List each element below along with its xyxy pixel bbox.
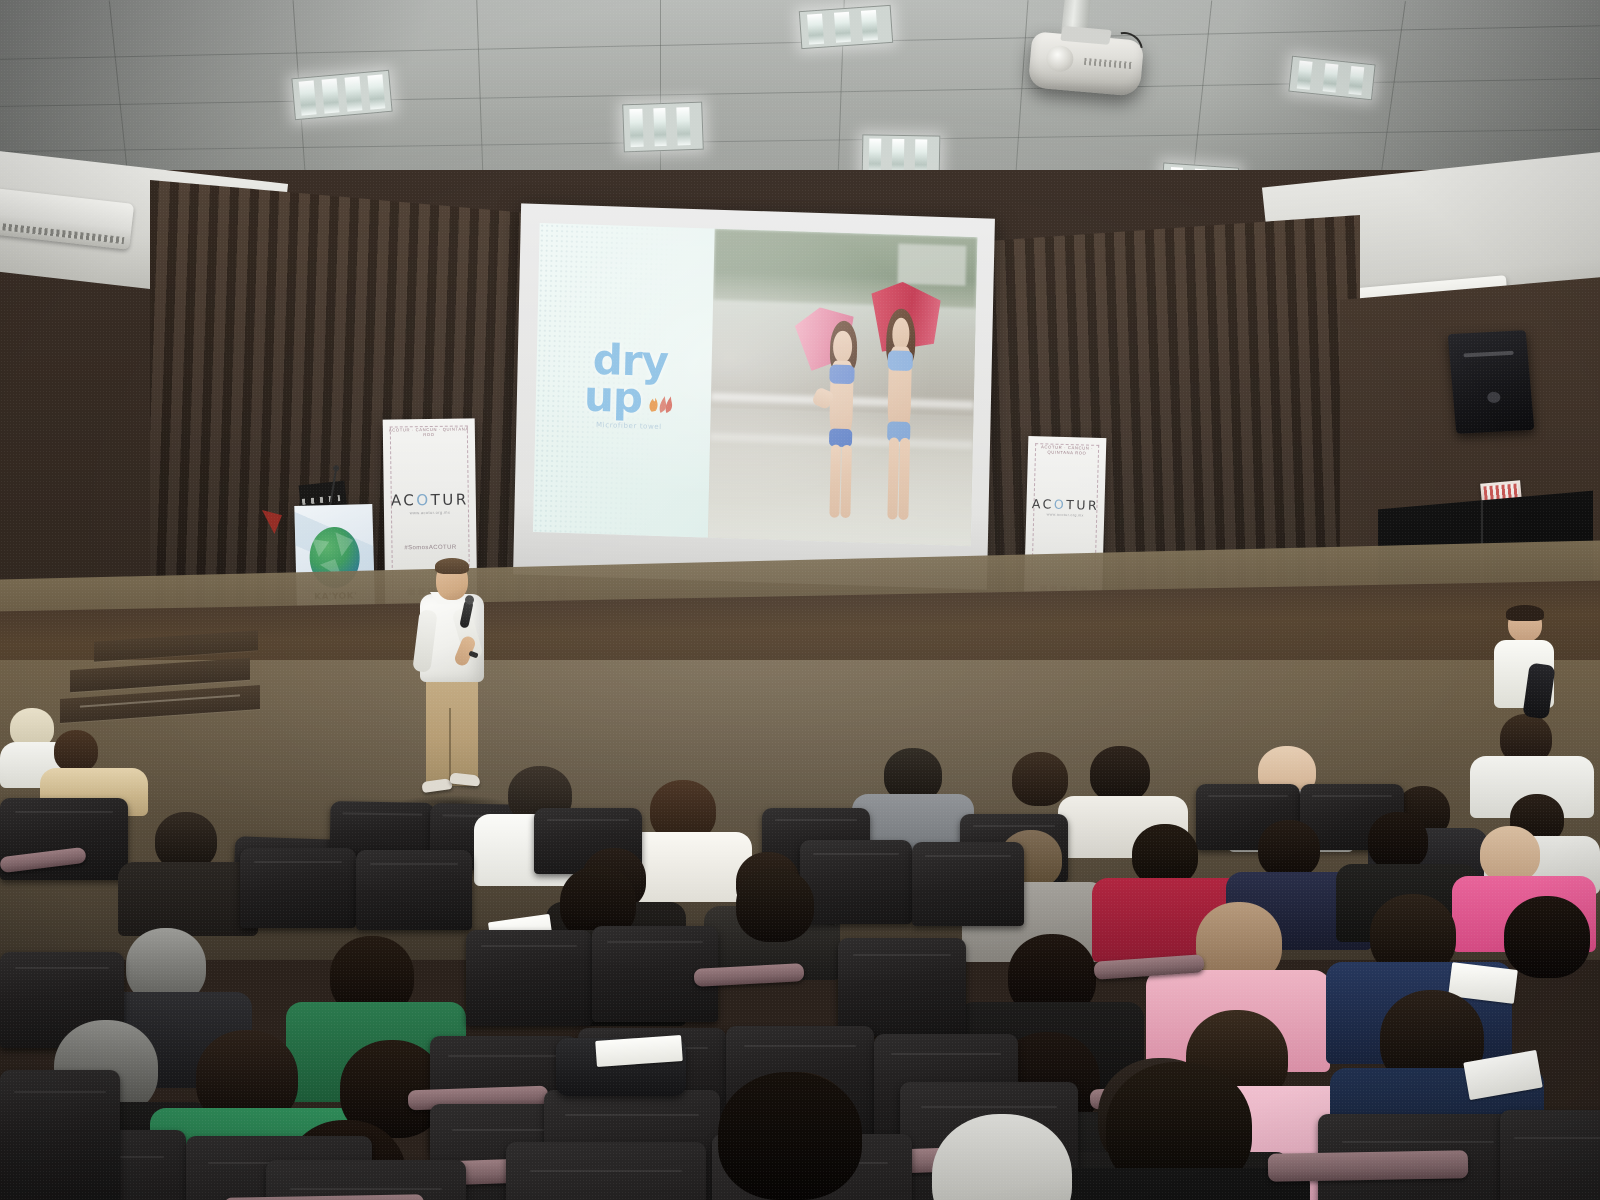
beach-building: [898, 244, 967, 286]
projected-slide: dry up Microfiber towel: [533, 223, 978, 546]
attendee-body: [118, 862, 258, 936]
attendee-head: [1368, 812, 1428, 870]
theater-seat[interactable]: [356, 850, 472, 930]
audience-seating: [0, 690, 1600, 1200]
theater-seat[interactable]: [838, 938, 966, 1036]
ceiling-light-fixture: [799, 5, 893, 49]
attendee-head: [54, 730, 98, 772]
ceiling-light-fixture: [291, 70, 392, 120]
projection-screen: dry up Microfiber towel: [513, 203, 995, 589]
banner-hashtag: #SomosACOTUR: [384, 544, 476, 551]
attendee-head: [1258, 820, 1320, 878]
beach-model-b: [866, 299, 939, 524]
banner-top-text: ACOTUR · CANCUN · QUINTANA ROO: [383, 426, 475, 437]
wall-speaker: [1448, 330, 1535, 434]
theater-seat[interactable]: [800, 840, 912, 924]
seat-armrest: [1268, 1150, 1468, 1181]
acotur-brand-right: ACOTUR: [1026, 496, 1104, 513]
theater-seat[interactable]: [506, 1142, 706, 1200]
attendee-head: [1090, 746, 1150, 802]
flame-icon: [645, 385, 676, 416]
dryup-logo-line2: up: [584, 379, 643, 418]
attendee-head: [736, 868, 814, 942]
attendee-head: [1132, 824, 1198, 886]
projector-lens: [1045, 45, 1074, 73]
auditorium-photo: dry up Microfiber towel: [0, 0, 1600, 1200]
slide-photo-panel: [708, 229, 977, 546]
presenter-hair: [435, 558, 469, 574]
theater-seat[interactable]: [266, 1160, 466, 1200]
attendee-head: [1012, 752, 1068, 806]
slide-logo-panel: dry up Microfiber towel: [533, 223, 715, 538]
attendee-head: [1504, 896, 1590, 978]
acotur-brand-left: ACOTUR: [384, 490, 476, 509]
banner-top-text: ACOTUR · CANCUN · QUINTANA ROO: [1028, 444, 1106, 456]
theater-seat[interactable]: [466, 930, 592, 1026]
standing-attendee: [1486, 608, 1562, 740]
attendee-head: [1480, 826, 1540, 882]
attendee-head: [718, 1072, 862, 1200]
theater-seat[interactable]: [0, 1070, 120, 1200]
theater-seat[interactable]: [912, 842, 1024, 926]
ceiling-light-fixture: [622, 102, 704, 153]
projector-bracket: [1060, 26, 1112, 45]
theater-seat[interactable]: [240, 848, 356, 928]
theater-seat[interactable]: [1500, 1110, 1600, 1200]
